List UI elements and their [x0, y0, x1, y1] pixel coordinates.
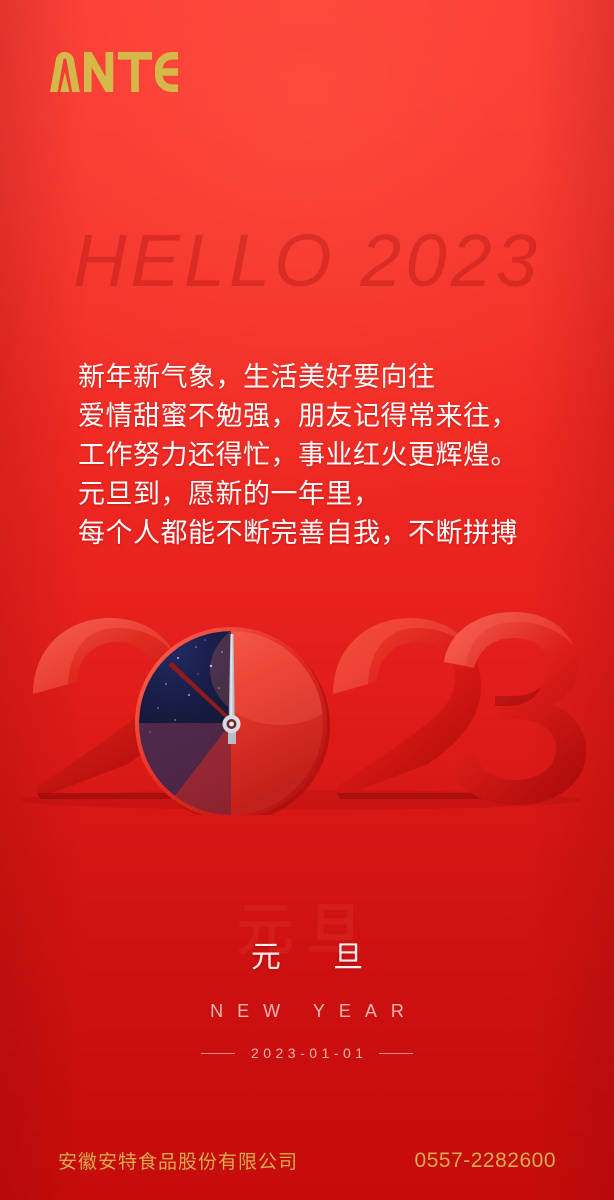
footer-bar: 安徽安特食品股份有限公司 0557-2282600: [0, 1147, 614, 1174]
poem-line: 爱情甜蜜不勉强，朋友记得常来往，: [78, 397, 518, 436]
ante-logo[interactable]: [50, 48, 202, 96]
poem-line: 每个人都能不断完善自我，不断拼搏: [78, 514, 518, 553]
occasion-date: 2023-01-01: [246, 1045, 367, 1061]
footer-phone-number[interactable]: 0557-2282600: [415, 1149, 556, 1173]
poem-block: 新年新气象，生活美好要向往 爱情甜蜜不勉强，朋友记得常来往， 工作努力还得忙，事…: [78, 358, 518, 553]
poem-line: 元旦到，愿新的一年里，: [78, 475, 518, 514]
occasion-title-cn: 元 旦: [0, 932, 614, 976]
poem-line: 工作努力还得忙，事业红火更辉煌。: [78, 436, 518, 475]
ghost-headline: HELLO 2023: [0, 218, 614, 303]
year-numerals-2023: [0, 600, 614, 815]
footer-company-name: 安徽安特食品股份有限公司: [58, 1147, 298, 1174]
occasion-date-row: 2023-01-01: [0, 1045, 614, 1061]
date-rule-left: [201, 1053, 235, 1054]
date-rule-right: [379, 1053, 413, 1054]
poem-line: 新年新气象，生活美好要向往: [78, 358, 518, 397]
new-year-poster: HELLO 2023 新年新气象，生活美好要向往 爱情甜蜜不勉强，朋友记得常来往…: [0, 0, 614, 1200]
occasion-title-en: NEW YEAR: [0, 1001, 614, 1022]
